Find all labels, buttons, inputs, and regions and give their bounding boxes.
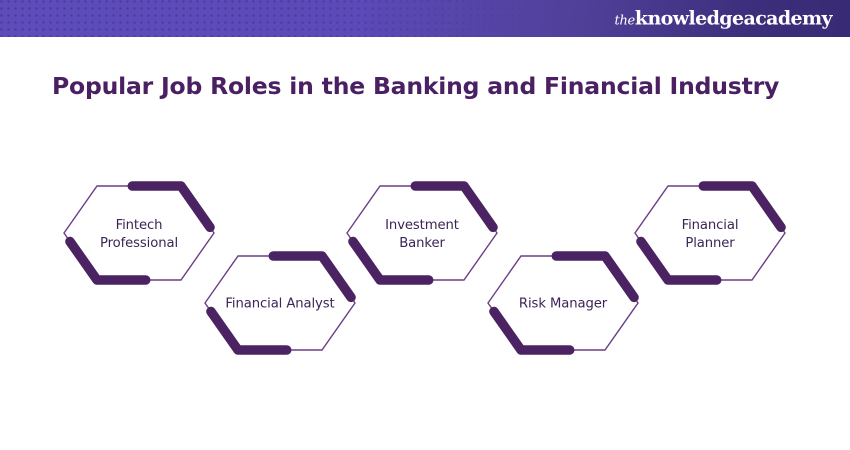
brand-logo: theknowledgeacademy	[615, 9, 832, 28]
hexagon-label: Risk Manager	[519, 297, 608, 312]
hexagon-label-line: Professional	[100, 236, 178, 251]
brand-logo-word-academy: academy	[743, 7, 832, 29]
page-title: Popular Job Roles in the Banking and Fin…	[52, 72, 812, 100]
hexagon-label: Financial Analyst	[225, 297, 334, 312]
hexagon-label-line: Risk Manager	[519, 297, 608, 312]
hexagon-label-line: Planner	[685, 236, 735, 251]
hexagon-node-risk-manager[interactable]: Risk Manager	[488, 256, 638, 350]
brand-logo-prefix: the	[615, 13, 635, 28]
hexagon-label-line: Financial Analyst	[225, 297, 334, 312]
header-dot-pattern	[0, 0, 560, 37]
header-band: theknowledgeacademy	[0, 0, 850, 37]
hexagon-label-line: Investment	[385, 218, 459, 233]
hexagon-label-line: Financial	[682, 218, 739, 233]
hexagon-node-financial-analyst[interactable]: Financial Analyst	[205, 256, 355, 350]
hexagon-label-line: Banker	[399, 236, 445, 251]
hexagon-diagram: FintechProfessionalFinancial AnalystInve…	[0, 140, 850, 420]
hexagon-node-investment-banker[interactable]: InvestmentBanker	[347, 186, 497, 280]
hexagon-diagram-svg: FintechProfessionalFinancial AnalystInve…	[0, 140, 850, 420]
hexagon-node-fintech-professional[interactable]: FintechProfessional	[64, 186, 214, 280]
brand-logo-word-knowledge: knowledge	[635, 7, 744, 29]
hexagon-node-financial-planner[interactable]: FinancialPlanner	[635, 186, 785, 280]
hexagon-label-line: Fintech	[116, 218, 163, 233]
